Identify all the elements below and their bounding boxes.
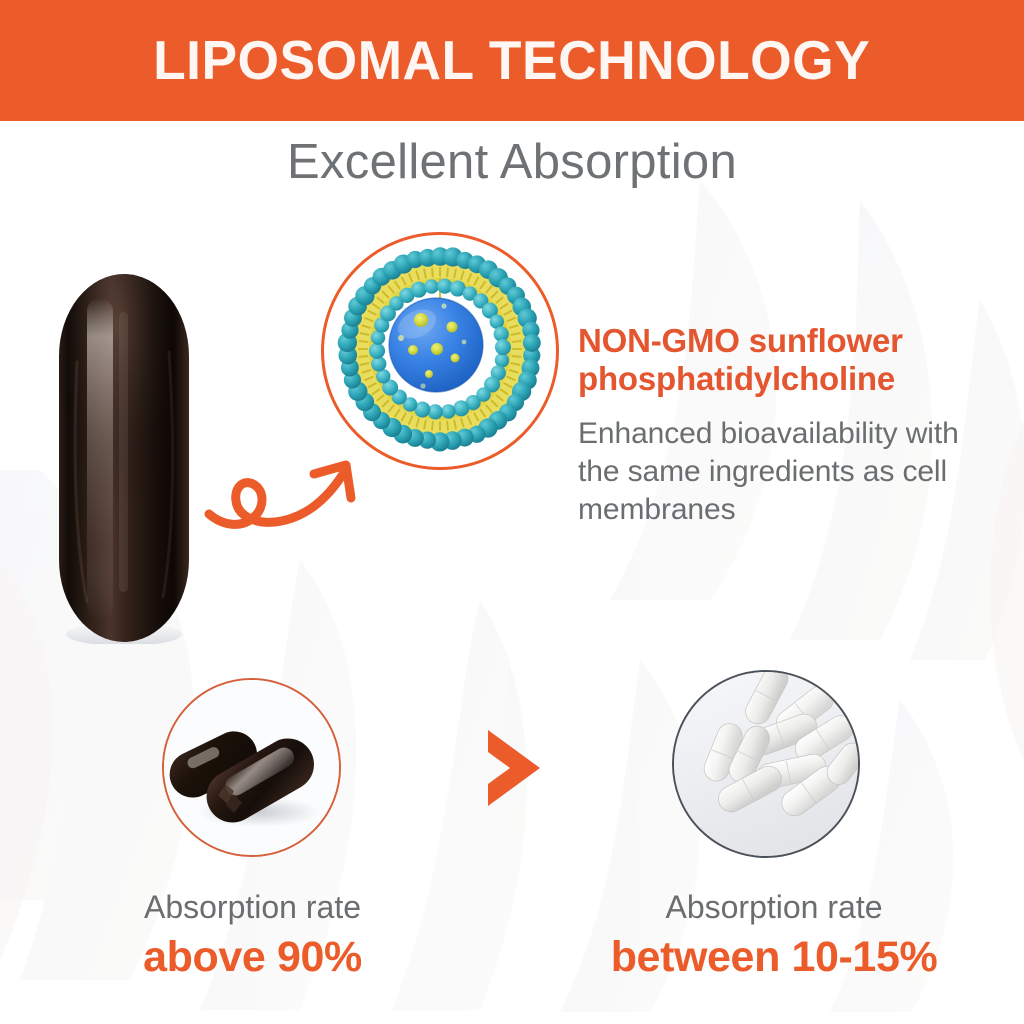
black-softgel-capsule — [57, 272, 191, 644]
right-rate-value: between 10-15% — [548, 933, 1000, 982]
info-text-block: NON-GMO sunflower phosphatidylcholine En… — [578, 322, 998, 529]
greater-than-chevron-icon — [478, 726, 550, 810]
header-banner: LIPOSOMAL TECHNOLOGY — [0, 0, 1024, 121]
black-softgels-illustration — [164, 680, 341, 857]
left-rate-value: above 90% — [40, 933, 465, 982]
black-softgels-photo-circle — [162, 678, 341, 857]
right-rate-label: Absorption rate — [548, 890, 1000, 925]
left-absorption-label: Absorption rate above 90% — [40, 890, 465, 983]
info-heading: NON-GMO sunflower phosphatidylcholine — [578, 322, 998, 399]
white-capsules-illustration — [674, 672, 860, 858]
left-rate-label: Absorption rate — [40, 890, 465, 925]
white-capsules-photo-circle — [672, 670, 860, 858]
liposome-diagram — [321, 232, 559, 470]
page-title: LIPOSOMAL TECHNOLOGY — [153, 33, 870, 88]
curly-arrow-icon — [203, 438, 383, 558]
subtitle: Excellent Absorption — [0, 134, 1024, 190]
right-absorption-label: Absorption rate between 10-15% — [548, 890, 1000, 983]
liposome-cross-section-icon — [337, 246, 543, 452]
infographic-canvas: LIPOSOMAL TECHNOLOGY Excellent Absorptio… — [0, 0, 1024, 1024]
info-body: Enhanced bioavailability with the same i… — [578, 415, 998, 529]
